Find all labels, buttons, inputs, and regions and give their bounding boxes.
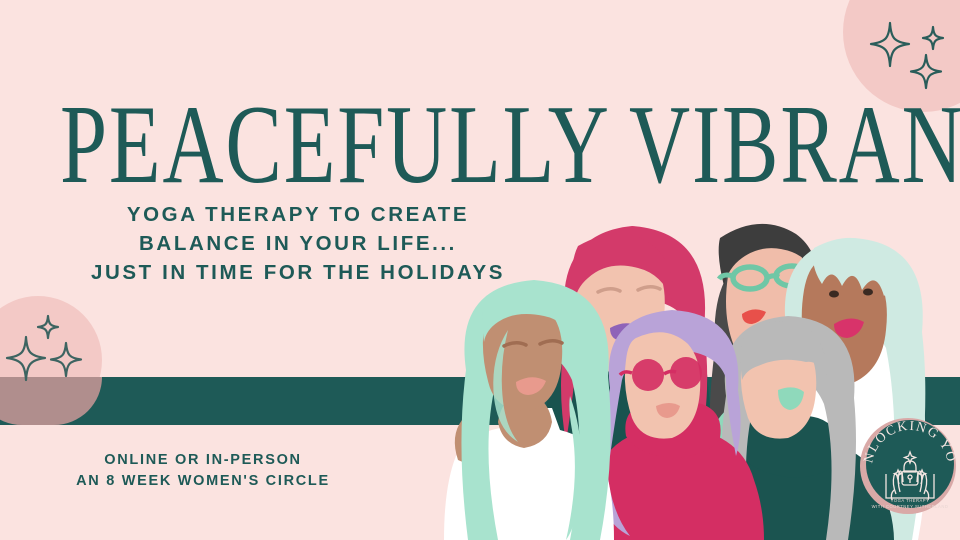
sparkle-icon-large	[871, 23, 909, 66]
sparkle-icon-small	[38, 316, 58, 338]
footnote-line-1: ONLINE OR IN-PERSON	[48, 450, 358, 471]
badge-sub-line-1: YOGA THERAPY	[891, 498, 930, 503]
footnote-line-2: AN 8 WEEK WOMEN'S CIRCLE	[48, 471, 358, 492]
footnote: ONLINE OR IN-PERSON AN 8 WEEK WOMEN'S CI…	[48, 450, 358, 492]
sparkle-icon-medium	[51, 343, 81, 376]
sparkle-group-bottom-left	[4, 312, 99, 392]
figure-mint-hair-woman	[444, 280, 614, 540]
sparkle-icon-large	[7, 337, 45, 380]
page-title: PEACEFULLY VIBRANT	[60, 88, 796, 200]
promotional-banner: PEACEFULLY VIBRANT YOGA THERAPY TO CREAT…	[0, 0, 960, 540]
sparkle-icon-small	[923, 27, 943, 49]
badge-sub-line-2: WITH COURTNEY SUTHERLAND	[872, 504, 949, 509]
logo-badge[interactable]: UNLOCKING YOU YOGA THERAPY WITH COURTNEY…	[858, 412, 960, 516]
